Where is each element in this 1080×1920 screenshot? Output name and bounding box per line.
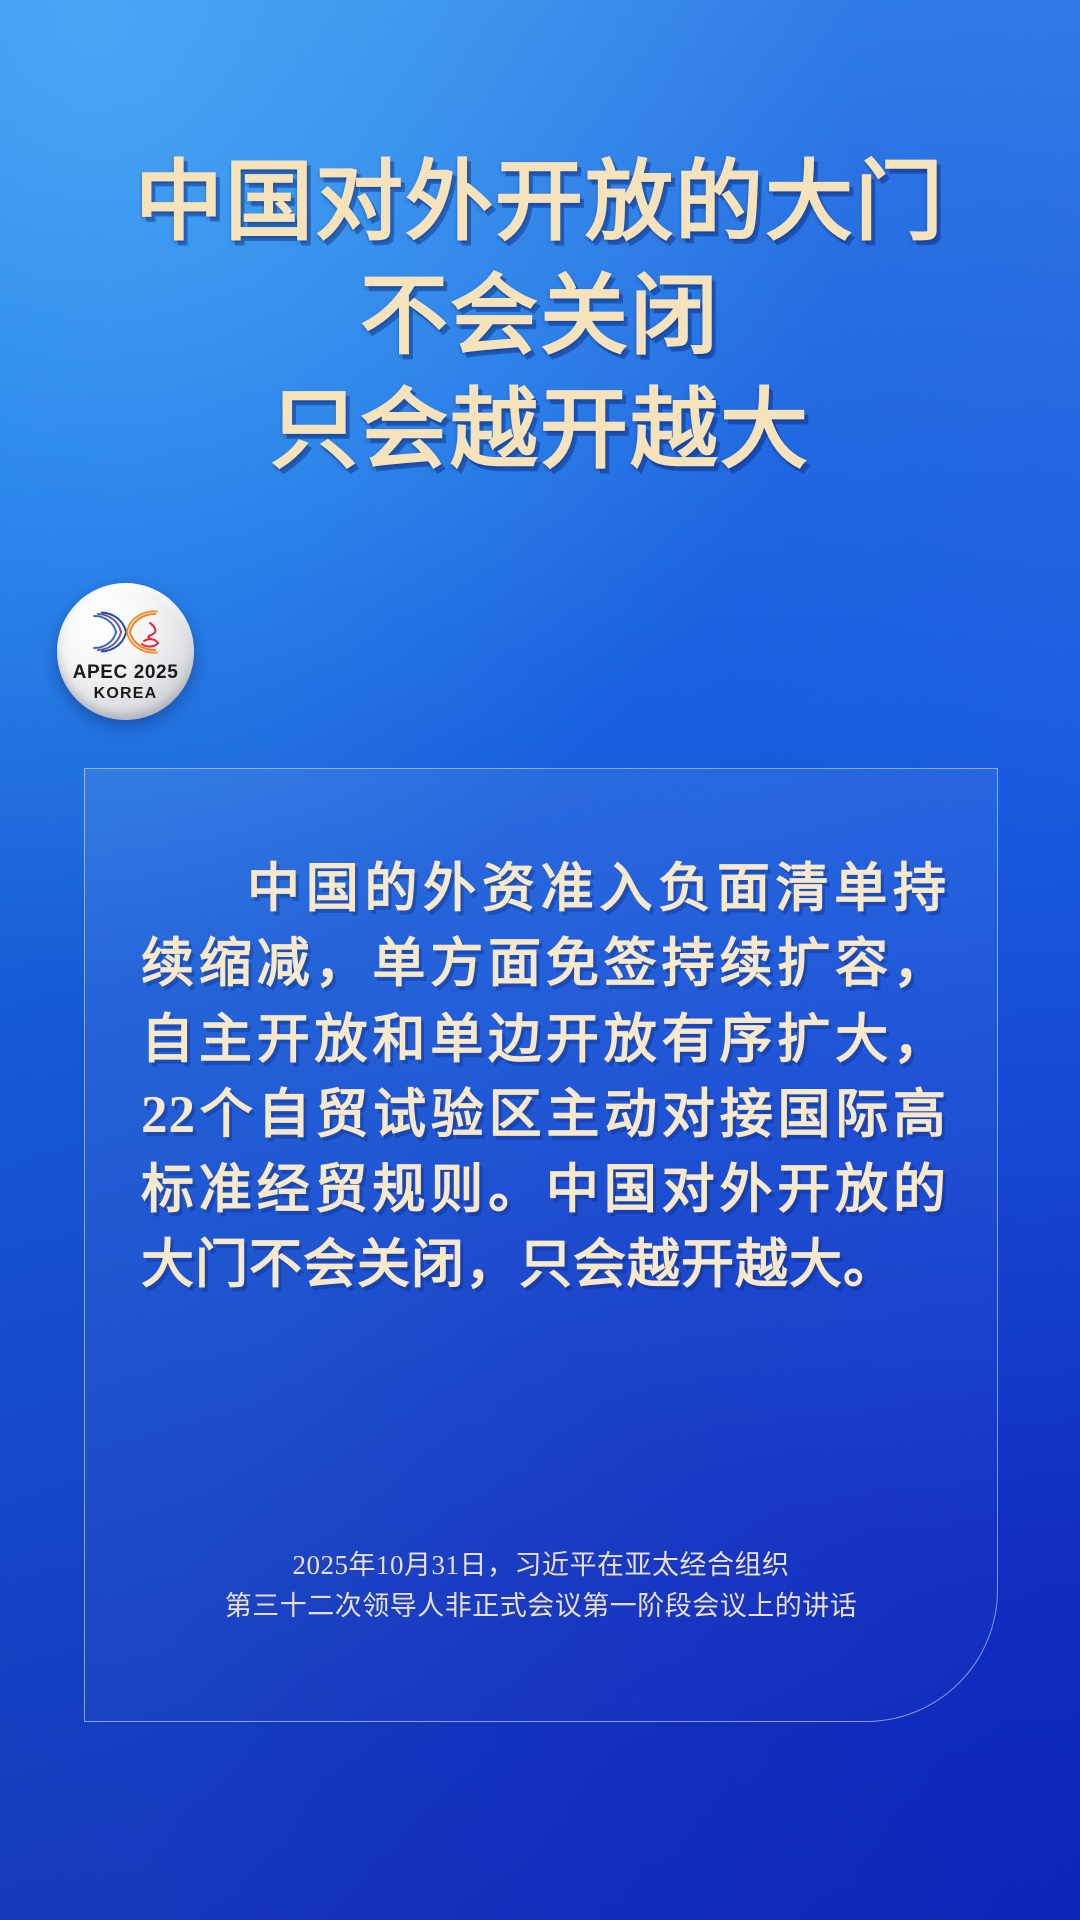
poster-headline: 中国对外开放的大门 不会关闭 只会越开越大 [0, 150, 1080, 481]
quote-card: 中国的外资准入负面清单持续缩减，单方面免签持续扩容，自主开放和单边开放有序扩大，… [84, 768, 998, 1722]
headline-line-3: 只会越开越大 [0, 378, 1080, 482]
headline-line-1: 中国对外开放的大门 [0, 150, 1080, 254]
attribution-line-1: 2025年10月31日，习近平在亚太经合组织 [141, 1545, 941, 1586]
poster-root: 中国对外开放的大门 不会关闭 只会越开越大 [0, 0, 1080, 1920]
attribution-line-2: 第三十二次领导人非正式会议第一阶段会议上的讲话 [141, 1586, 941, 1627]
headline-line-2: 不会关闭 [0, 264, 1080, 368]
apec-badge-title: APEC 2025 [73, 663, 179, 682]
quote-attribution: 2025年10月31日，习近平在亚太经合组织 第三十二次领导人非正式会议第一阶段… [141, 1545, 941, 1627]
apec-badge: APEC 2025 KOREA [57, 583, 194, 720]
quote-text: 中国的外资准入负面清单持续缩减，单方面免签持续扩容，自主开放和单边开放有序扩大，… [141, 852, 947, 1304]
apec-badge-subtitle: KOREA [94, 686, 158, 702]
apec-korea-face-logo-icon [82, 606, 170, 658]
